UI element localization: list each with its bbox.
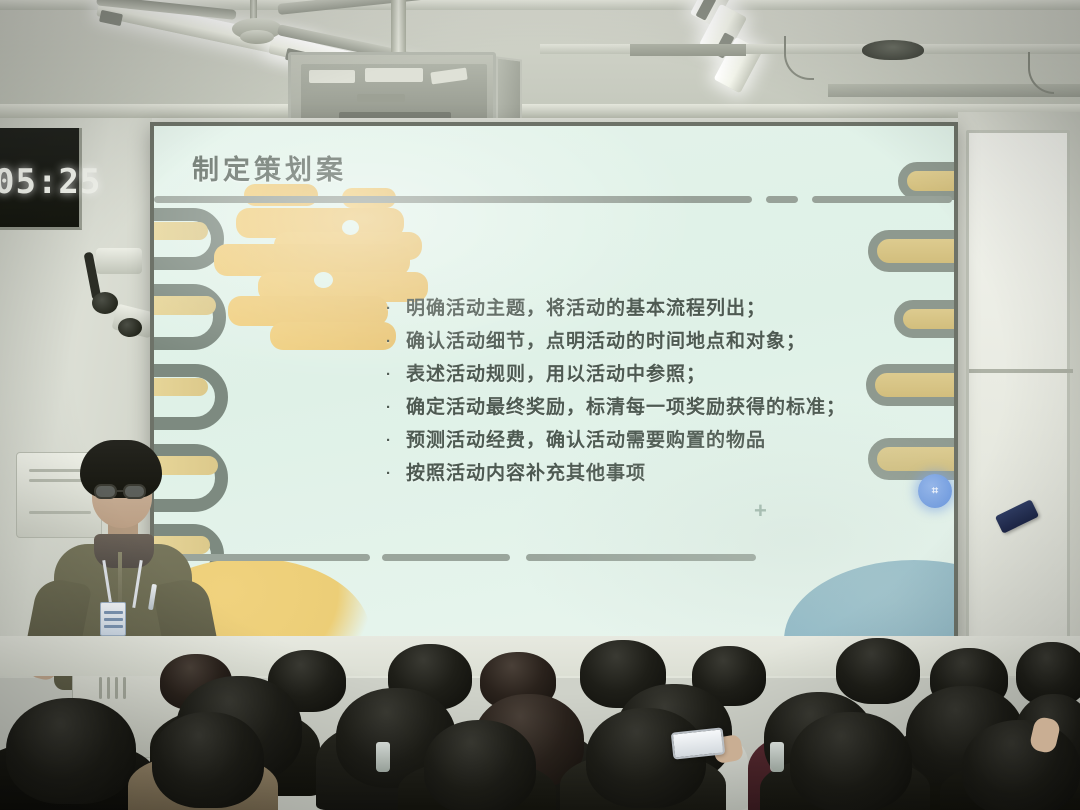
bullet-text: 按照活动内容补充其他事项: [406, 459, 906, 489]
student-head: [152, 712, 264, 808]
bullet-dot-icon: ·: [386, 459, 406, 489]
list-item: · 按照活动内容补充其他事项: [386, 459, 906, 489]
slide-title: 制定策划案: [192, 148, 347, 187]
projector-vent: [309, 70, 355, 83]
title-rule: [154, 196, 752, 203]
list-item: · 确认活动细节，点明活动的时间地点和对象；: [386, 327, 906, 357]
gold-accent-bar: [154, 222, 208, 240]
clock-time-display: 05:25: [0, 162, 84, 202]
slide-bullet-list: · 明确活动主题，将活动的基本流程列出； · 确认活动细节，点明活动的时间地点和…: [386, 294, 906, 492]
security-camera-icon-2: [118, 318, 142, 337]
badge-line: [104, 625, 123, 628]
list-item: · 表述活动规则，用以活动中参照；: [386, 360, 906, 390]
bottom-rule-dash: [526, 554, 756, 561]
cloud-motif-bar: [270, 322, 396, 350]
bullet-dot-icon: ·: [386, 294, 406, 324]
serpentine-decor: [154, 364, 228, 430]
bullet-text: 表述活动规则，用以活动中参照；: [406, 360, 906, 390]
student-head: [962, 720, 1080, 810]
ceiling-duct-2: [630, 44, 746, 56]
projector-vent: [430, 68, 467, 85]
student-head: [836, 638, 920, 704]
bullet-text: 明确活动主题，将活动的基本流程列出；: [406, 294, 906, 324]
water-bottle: [770, 742, 784, 772]
serpentine-decor: [154, 284, 226, 350]
audience-area: [0, 636, 1080, 810]
student-phone-camera[interactable]: [671, 727, 726, 759]
ceiling-beam: [0, 104, 1080, 118]
whiteboard-divider: [969, 369, 1073, 373]
bullet-dot-icon: ·: [386, 393, 406, 423]
whiteboard-eraser[interactable]: [995, 499, 1039, 534]
bullet-dot-icon: ·: [386, 360, 406, 390]
gold-accent-bar: [154, 296, 216, 315]
title-rule-dash: [766, 196, 798, 203]
cloud-motif-hole: [342, 220, 359, 235]
badge-line: [104, 611, 123, 614]
projector-mount-rod: [391, 0, 406, 56]
teal-blob-decor: [784, 560, 954, 642]
list-item: · 确定活动最终奖励，标清每一项奖励获得的标准；: [386, 393, 906, 423]
bullet-dot-icon: ·: [386, 327, 406, 357]
id-badge: [100, 602, 126, 636]
list-item: · 明确活动主题，将活动的基本流程列出；: [386, 294, 906, 324]
wall-led-clock: 05:25: [0, 128, 82, 230]
title-rule-dash: [812, 196, 952, 203]
bullet-dot-icon: ·: [386, 426, 406, 456]
projector-vent: [365, 68, 423, 82]
ceiling-speaker: [862, 40, 924, 60]
capsule-decor: [898, 162, 954, 200]
glasses-icon: [94, 484, 117, 499]
blue-badge-icon[interactable]: ⌗: [918, 474, 952, 508]
whiteboard: [966, 130, 1070, 658]
bullet-text: 预测活动经费，确认活动需要购置的物品: [406, 426, 906, 456]
gold-accent-bar: [154, 378, 208, 396]
bullet-text: 确定活动最终奖励，标清每一项奖励获得的标准；: [406, 393, 906, 423]
projection-screen: 制定策划案 · 明确活动主题，将活动的基本流程列出； · 确认活动细节，点明活动…: [150, 122, 958, 646]
badge-line: [104, 618, 123, 621]
student-head: [424, 720, 536, 810]
glasses-bridge: [117, 490, 123, 492]
classroom-photo: 05:25: [0, 0, 1080, 810]
camera-mount: [96, 248, 142, 274]
glasses-icon: [123, 484, 146, 499]
presentation-slide: 制定策划案 · 明确活动主题，将活动的基本流程列出； · 确认活动细节，点明活动…: [154, 126, 954, 642]
security-camera-icon: [92, 292, 118, 314]
student-head: [6, 698, 136, 804]
bullet-text: 确认活动细节，点明活动的时间地点和对象；: [406, 327, 906, 357]
list-item: · 预测活动经费，确认活动需要购置的物品: [386, 426, 906, 456]
water-bottle: [376, 742, 390, 772]
capsule-decor: [868, 230, 954, 272]
bottom-rule-dash: [382, 554, 510, 561]
projector-body: [301, 64, 487, 124]
plus-decor-icon: +: [754, 498, 767, 524]
student-head: [790, 712, 912, 810]
fan-hub-lower: [240, 30, 274, 44]
cloud-motif-hole: [314, 272, 333, 288]
projector-label: [357, 94, 405, 102]
